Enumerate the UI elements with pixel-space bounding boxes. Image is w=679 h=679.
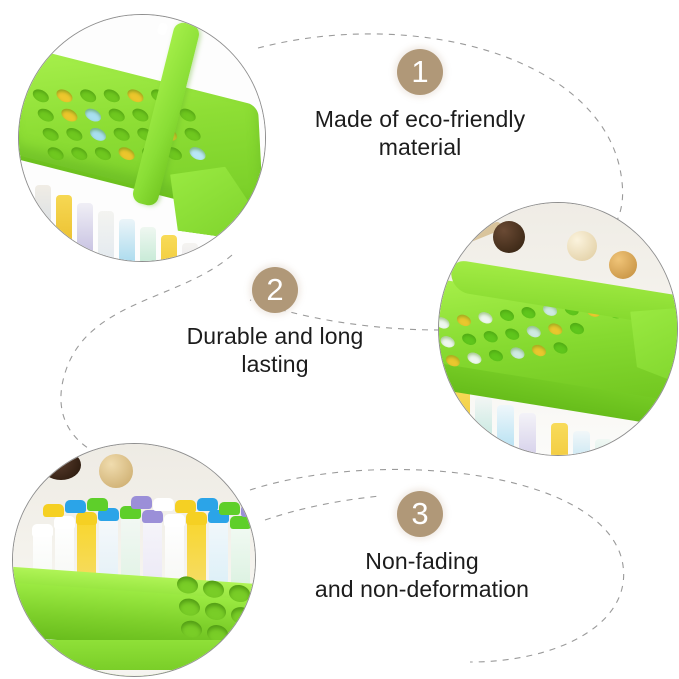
feature-text-3: Non-fading and non-deformation: [262, 547, 582, 603]
tube: [519, 413, 536, 456]
tube: [203, 251, 219, 262]
photo-3-rattan-ball: [99, 454, 133, 488]
step-badge-1: 1: [397, 49, 443, 95]
photo-3-dark-ball: [41, 450, 81, 480]
product-photo-2-art: [439, 203, 677, 455]
photo-2-tan-ball: [609, 251, 637, 279]
photo-2-cream-ball: [567, 231, 597, 261]
step-badge-2: 2: [252, 267, 298, 313]
tube: [639, 455, 656, 456]
tube: [595, 439, 612, 456]
product-feature-infographic: 1 2 3 Made of eco-friendly material Dura…: [0, 0, 679, 679]
step-badge-3: 3: [397, 491, 443, 537]
product-photo-3: [12, 443, 256, 677]
tube: [35, 185, 51, 245]
tube: [497, 405, 514, 456]
product-photo-1-art: [19, 15, 265, 261]
tube: [140, 227, 156, 262]
photo-3-empty-holes: [173, 557, 256, 653]
connector-curve-5: [265, 496, 380, 520]
tube: [56, 195, 72, 255]
tube: [77, 203, 93, 262]
tube: [453, 389, 470, 455]
feature-text-1: Made of eco-friendly material: [280, 105, 560, 161]
tube: [119, 219, 135, 262]
tube: [161, 235, 177, 262]
feature-text-2: Durable and long lasting: [135, 322, 415, 378]
photo-2-dark-ball: [493, 221, 525, 253]
tube: [573, 431, 590, 456]
product-photo-1: [18, 14, 266, 262]
photo-3-table-surface: [13, 670, 256, 677]
tube: [617, 447, 634, 456]
tube: [98, 211, 114, 262]
tube: [475, 397, 492, 456]
tube: [182, 243, 198, 262]
tube: [551, 423, 568, 456]
product-photo-2: [438, 202, 678, 456]
product-photo-3-art: [13, 444, 255, 676]
